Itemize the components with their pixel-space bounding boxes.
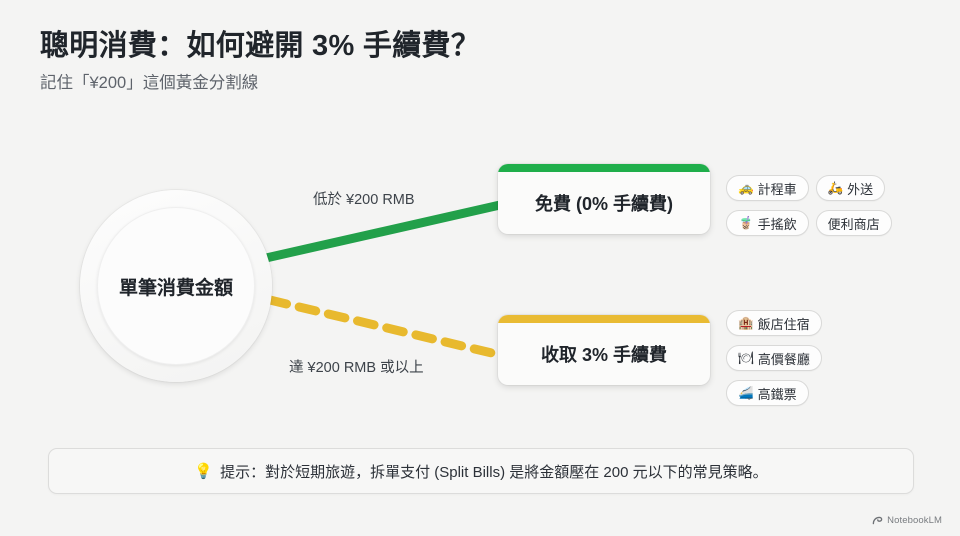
tag-item: 便利商店 bbox=[816, 210, 892, 236]
high-speed-rail-icon: 🚄 bbox=[738, 387, 754, 400]
flow-diagram: 單筆消費金額 低於 ¥200 RMB 達 ¥200 RMB 或以上 免費 (0%… bbox=[0, 140, 960, 430]
tag-item: 🚄 高鐵票 bbox=[726, 380, 809, 406]
card-label-fee: 收取 3% 手續費 bbox=[541, 341, 667, 367]
page-title: 聰明消費：如何避開 3% 手續費？ bbox=[40, 28, 880, 64]
taxi-icon: 🚕 bbox=[738, 182, 754, 195]
card-accent-bar-free bbox=[498, 164, 710, 172]
tag-item: 🍽 高價餐廳 bbox=[726, 345, 822, 371]
tag-item: 🏨 飯店住宿 bbox=[726, 310, 822, 336]
scooter-delivery-icon: 🛵 bbox=[828, 182, 844, 195]
tag-row: 🚕 計程車 🛵 外送 bbox=[726, 175, 954, 201]
tag-item: 🚕 計程車 bbox=[726, 175, 809, 201]
tag-label: 高價餐廳 bbox=[758, 349, 810, 368]
tag-row: 🧋 手搖飲 便利商店 bbox=[726, 210, 954, 236]
tag-row: 🍽 高價餐廳 bbox=[726, 345, 954, 371]
card-body-fee: 收取 3% 手續費 bbox=[498, 323, 710, 385]
header: 聰明消費：如何避開 3% 手續費？ 記住「¥200」這個黃金分割線 bbox=[40, 28, 880, 95]
edge-label-free: 低於 ¥200 RMB bbox=[313, 188, 415, 209]
tag-label: 手搖飲 bbox=[758, 214, 797, 233]
watermark-text: NotebookLM bbox=[887, 515, 942, 526]
edge-free-connector bbox=[266, 205, 500, 258]
slide-canvas: 聰明消費：如何避開 3% 手續費？ 記住「¥200」這個黃金分割線 單筆消費金額… bbox=[0, 0, 960, 536]
tag-label: 外送 bbox=[847, 179, 873, 198]
tip-banner: 💡 提示：對於短期旅遊，拆單支付 (Split Bills) 是將金額壓在 20… bbox=[48, 448, 914, 494]
tip-text: 提示：對於短期旅遊，拆單支付 (Split Bills) 是將金額壓在 200 … bbox=[220, 461, 768, 482]
source-node-inner: 單筆消費金額 bbox=[97, 207, 255, 365]
card-accent-bar-fee bbox=[498, 315, 710, 323]
bubble-tea-icon: 🧋 bbox=[738, 217, 754, 230]
tag-label: 飯店住宿 bbox=[758, 314, 810, 333]
outcome-card-fee: 收取 3% 手續費 bbox=[498, 315, 710, 385]
hotel-icon: 🏨 bbox=[738, 317, 754, 330]
tag-group-fee: 🏨 飯店住宿 🍽 高價餐廳 🚄 高鐵票 bbox=[726, 310, 954, 415]
tag-label: 便利商店 bbox=[828, 214, 880, 233]
notebooklm-logo-icon bbox=[872, 515, 883, 526]
tag-row: 🚄 高鐵票 bbox=[726, 380, 954, 406]
source-node-label: 單筆消費金額 bbox=[119, 273, 233, 300]
tag-row: 🏨 飯店住宿 bbox=[726, 310, 954, 336]
tag-item: 🛵 外送 bbox=[816, 175, 886, 201]
tag-label: 高鐵票 bbox=[758, 384, 797, 403]
tag-item: 🧋 手搖飲 bbox=[726, 210, 809, 236]
card-label-free: 免費 (0% 手續費) bbox=[535, 190, 673, 216]
outcome-card-free: 免費 (0% 手續費) bbox=[498, 164, 710, 234]
restaurant-icon: 🍽 bbox=[738, 352, 754, 365]
tag-label: 計程車 bbox=[758, 179, 797, 198]
edge-fee-connector bbox=[270, 300, 500, 355]
page-subtitle: 記住「¥200」這個黃金分割線 bbox=[40, 73, 880, 94]
watermark: NotebookLM bbox=[872, 515, 942, 526]
source-node: 單筆消費金額 bbox=[80, 190, 272, 382]
lightbulb-icon: 💡 bbox=[194, 462, 213, 480]
card-body-free: 免費 (0% 手續費) bbox=[498, 172, 710, 234]
edge-label-fee: 達 ¥200 RMB 或以上 bbox=[289, 356, 424, 377]
tag-group-free: 🚕 計程車 🛵 外送 🧋 手搖飲 便利商店 bbox=[726, 175, 954, 245]
